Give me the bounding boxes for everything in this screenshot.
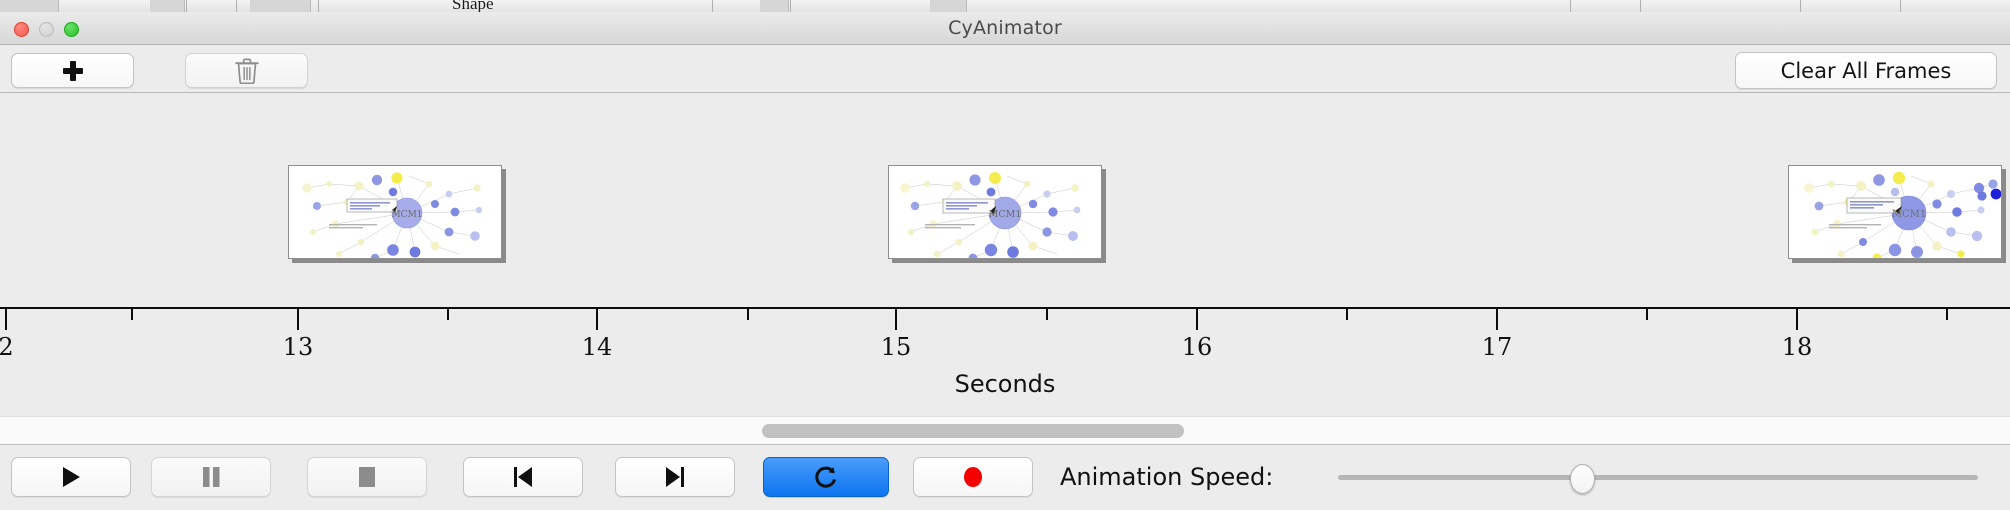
animation-speed-label: Animation Speed:: [1060, 457, 1273, 497]
title-bar: CyAnimator: [0, 12, 2010, 45]
ruler-label: 16: [1182, 333, 1213, 361]
ruler-tick-major: [1196, 309, 1198, 330]
background-tab: [760, 0, 789, 12]
svg-text:MCM1: MCM1: [989, 209, 1022, 220]
transport-bar: Animation Speed:: [0, 446, 2010, 510]
clear-all-frames-button[interactable]: Clear All Frames: [1735, 52, 1997, 89]
ruler-tick-minor: [1946, 309, 1948, 320]
frame-thumbnail-2[interactable]: MCM1: [888, 165, 1102, 259]
frame-timeline-track[interactable]: MCM1: [0, 93, 2010, 309]
cyanimator-window: Shape CyAnimator Clear All Frames: [0, 0, 2010, 510]
stop-icon: [356, 465, 378, 489]
network-graph-thumbnail: MCM1: [289, 166, 502, 259]
window-title: CyAnimator: [0, 12, 2010, 45]
background-divider: [186, 0, 187, 12]
record-icon: [961, 465, 985, 489]
background-divider: [712, 0, 713, 12]
plus-icon: [63, 61, 83, 81]
trash-icon: [235, 58, 259, 84]
background-divider: [1640, 0, 1641, 12]
skip-back-icon: [511, 465, 535, 489]
ruler-label: 13: [283, 333, 314, 361]
clear-all-frames-label: Clear All Frames: [1781, 59, 1952, 83]
slider-thumb[interactable]: [1570, 464, 1595, 494]
slider-track[interactable]: [1338, 475, 1978, 480]
ruler-tick-minor: [747, 309, 749, 320]
background-tab: [250, 0, 311, 12]
frame-thumbnail-1[interactable]: MCM1: [288, 165, 502, 259]
delete-frame-button[interactable]: [185, 53, 308, 88]
ruler-tick-minor: [1346, 309, 1348, 320]
ruler-tick-minor: [447, 309, 449, 320]
timeline-ruler[interactable]: 2 13 14 15 16 17 18 Seconds: [0, 309, 2010, 416]
ruler-tick-major: [895, 309, 897, 330]
svg-text:MCM1: MCM1: [391, 210, 422, 220]
animation-speed-slider[interactable]: [1338, 457, 1978, 497]
ruler-label: 15: [881, 333, 912, 361]
skip-forward-icon: [663, 465, 687, 489]
ruler-tick-major: [1496, 309, 1498, 330]
pause-button[interactable]: [151, 457, 271, 497]
play-button[interactable]: [11, 457, 131, 497]
skip-to-start-button[interactable]: [463, 457, 583, 497]
timeline-horizontal-scrollbar[interactable]: [0, 416, 2010, 445]
play-icon: [60, 465, 82, 489]
stop-button[interactable]: [307, 457, 427, 497]
frame-thumbnail-3[interactable]: MCM1: [1788, 165, 2002, 259]
ruler-label: 2: [0, 333, 14, 361]
ruler-tick-major: [5, 309, 7, 330]
background-divider: [318, 0, 319, 12]
loop-button[interactable]: [763, 457, 889, 497]
network-graph-thumbnail: MCM1: [1789, 166, 2002, 259]
ruler-tick-major: [1796, 309, 1798, 330]
ruler-tick-minor: [131, 309, 133, 320]
add-frame-button[interactable]: [11, 53, 134, 88]
ruler-axis-title: Seconds: [0, 370, 2010, 398]
background-divider: [1570, 0, 1571, 12]
background-divider: [236, 0, 237, 12]
background-divider: [1800, 0, 1801, 12]
background-tab: [0, 0, 59, 12]
background-tab: [930, 0, 967, 12]
skip-to-end-button[interactable]: [615, 457, 735, 497]
ruler-tick-major: [596, 309, 598, 330]
pause-icon: [200, 465, 222, 489]
ruler-tick-minor: [1046, 309, 1048, 320]
frame-toolbar: Clear All Frames: [0, 45, 2010, 93]
ruler-label: 17: [1482, 333, 1513, 361]
background-divider: [1900, 0, 1901, 12]
scrollbar-thumb[interactable]: [762, 424, 1184, 438]
background-tab: [150, 0, 185, 12]
svg-text:MCM1: MCM1: [1892, 209, 1927, 220]
network-graph-thumbnail: MCM1: [889, 166, 1102, 259]
ruler-tick-major: [297, 309, 299, 330]
record-button[interactable]: [913, 457, 1033, 497]
ruler-label: 18: [1782, 333, 1813, 361]
ruler-tick-minor: [1646, 309, 1648, 320]
background-divider: [790, 0, 791, 12]
ruler-label: 14: [582, 333, 613, 361]
loop-icon: [813, 464, 839, 490]
